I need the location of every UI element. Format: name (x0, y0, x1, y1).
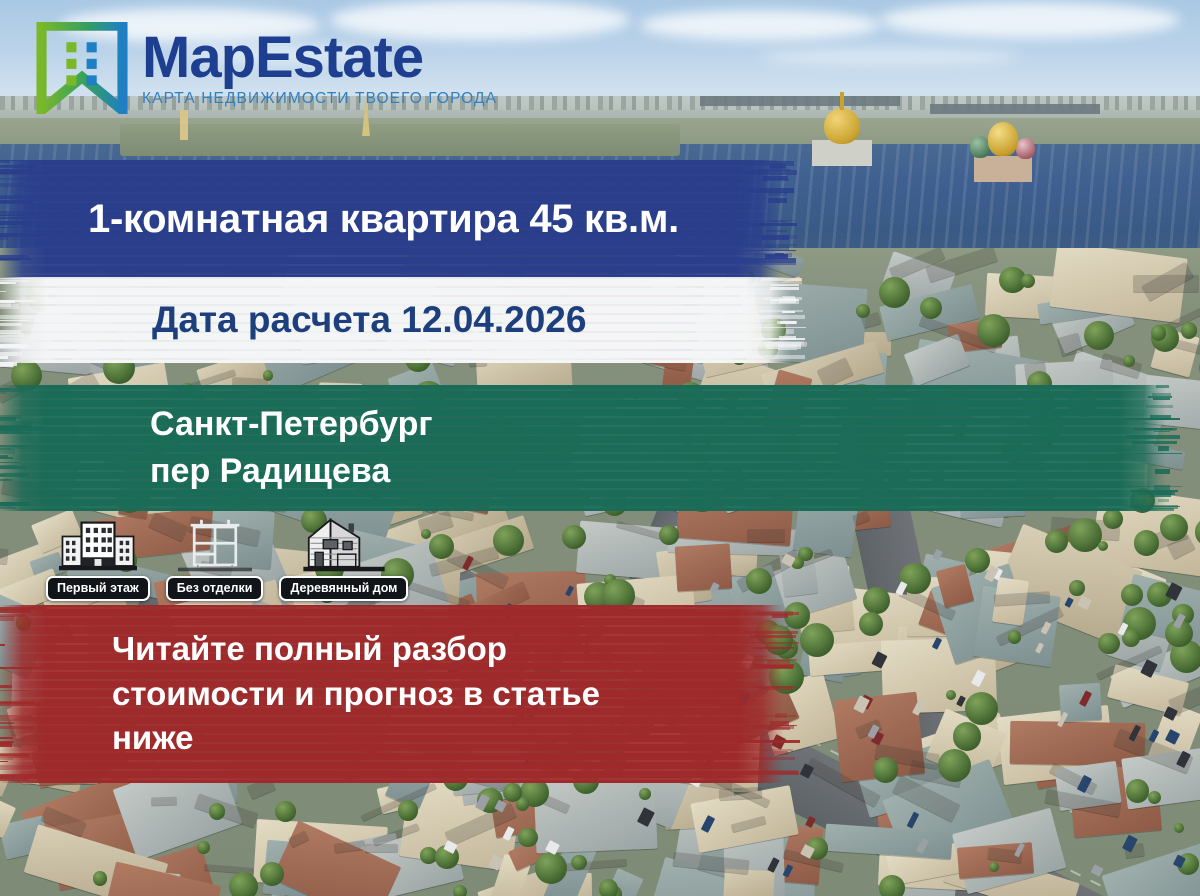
tree (953, 722, 982, 751)
badge-first-floor[interactable]: Первый этаж (46, 518, 150, 601)
tree (1045, 530, 1068, 553)
badge-no-finishing[interactable]: Без отделки (166, 518, 264, 601)
tree (1134, 530, 1159, 555)
calculation-date-band: Дата расчета 12.04.2026 (0, 277, 792, 363)
map-pin-building-icon (36, 22, 128, 114)
tree (920, 297, 942, 319)
tree (784, 602, 810, 628)
tree (453, 885, 467, 896)
tree (197, 841, 210, 854)
location-street: пер Радищева (150, 448, 1166, 495)
apartment-building-icon (59, 518, 137, 574)
cta-line-3: ниже (112, 716, 784, 761)
bridge (700, 96, 900, 106)
property-title: 1-комнатная квартира 45 кв.м. (0, 197, 782, 242)
tree (493, 525, 524, 556)
feature-badges: Первый этаж Без отделки (46, 518, 408, 601)
tree (1084, 321, 1113, 350)
tree (1103, 509, 1122, 528)
wooden-house-icon (301, 518, 387, 574)
tree (209, 803, 226, 820)
tree (873, 757, 899, 783)
tree (879, 277, 910, 308)
tree (1148, 791, 1161, 804)
tree (1126, 779, 1150, 803)
tree (398, 800, 419, 821)
logo-word-estate: Estate (255, 25, 423, 90)
tree (879, 875, 905, 896)
tree (659, 525, 679, 545)
car (1090, 864, 1103, 877)
tree (275, 801, 296, 822)
facade-shadow (747, 529, 785, 542)
tree (639, 788, 651, 800)
lane-marking (1070, 870, 1081, 877)
tree (562, 525, 586, 549)
fortress-island (120, 124, 680, 156)
facade-shadow (151, 797, 177, 805)
rooftop (675, 543, 733, 591)
logo-word-map: Map (142, 25, 255, 90)
tree (503, 783, 522, 802)
tree (863, 587, 890, 614)
tree (1069, 580, 1084, 595)
tree (1151, 325, 1167, 341)
location-band: Санкт-Петербург пер Радищева (0, 385, 1166, 511)
tree (938, 749, 971, 782)
fortress-wall (180, 110, 188, 140)
badge-label: Деревянный дом (279, 576, 408, 601)
lane-marking (1090, 880, 1101, 887)
church-domes-icon (968, 122, 1040, 182)
tree (1098, 633, 1119, 654)
property-promo-poster: MapEstate КАРТА НЕДВИЖИМОСТИ ТВОЕГО ГОРО… (0, 0, 1200, 896)
location-city: Санкт-Петербург (150, 401, 1166, 448)
brand-logo[interactable]: MapEstate КАРТА НЕДВИЖИМОСТИ ТВОЕГО ГОРО… (36, 22, 497, 114)
tree (229, 872, 258, 896)
logo-wordmark: MapEstate (142, 29, 497, 87)
tree (535, 852, 567, 884)
tree (1123, 355, 1135, 367)
tree (1174, 823, 1184, 833)
bare-frame-construction-icon (172, 518, 258, 574)
tree (518, 828, 537, 847)
logo-tagline: КАРТА НЕДВИЖИМОСТИ ТВОЕГО ГОРОДА (142, 91, 497, 107)
tree (599, 879, 619, 896)
tree (421, 529, 431, 539)
tree (1008, 630, 1022, 644)
cta-line-1: Читайте полный разбор (112, 627, 784, 672)
calculation-date: Дата расчета 12.04.2026 (0, 299, 792, 340)
property-title-band: 1-комнатная квартира 45 кв.м. (0, 160, 782, 278)
tree (263, 370, 274, 381)
bridge (930, 104, 1100, 114)
tree (859, 612, 883, 636)
golden-dome-icon (824, 108, 860, 144)
tree (1181, 322, 1198, 339)
badge-wooden-house[interactable]: Деревянный дом (279, 518, 408, 601)
badge-label: Первый этаж (46, 576, 150, 601)
cta-line-2: стоимости и прогноз в статье (112, 672, 784, 717)
badge-label: Без отделки (166, 576, 264, 601)
cta-band: Читайте полный разбор стоимости и прогно… (0, 605, 784, 783)
facade-shadow (365, 844, 398, 852)
